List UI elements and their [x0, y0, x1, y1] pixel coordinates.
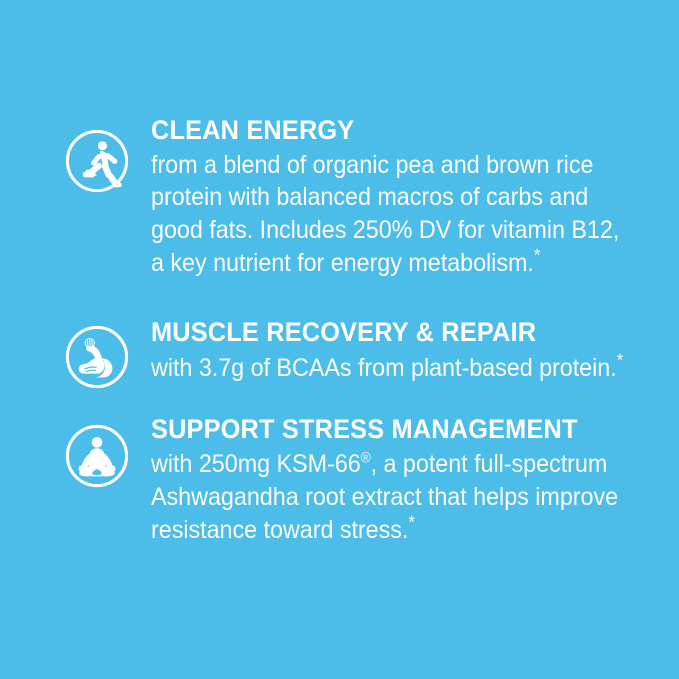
benefit-block-clean-energy: CLEAN ENERGY from a blend of organic pea… [0, 116, 679, 280]
running-person-icon [65, 129, 129, 193]
benefits-infographic: CLEAN ENERGY from a blend of organic pea… [0, 0, 679, 679]
benefit-heading: CLEAN ENERGY [151, 116, 609, 145]
meditating-person-icon [65, 424, 129, 488]
benefit-text-stress-management: SUPPORT STRESS MANAGEMENT with 250mg KSM… [151, 415, 631, 547]
benefit-body-text: with 3.7g of BCAAs from plant-based prot… [151, 354, 617, 382]
footnote-asterisk: * [534, 246, 541, 266]
footnote-asterisk: * [408, 512, 415, 532]
benefit-text-muscle-recovery: MUSCLE RECOVERY & REPAIR with 3.7g of BC… [151, 318, 631, 385]
benefit-body: with 3.7g of BCAAs from plant-based prot… [151, 352, 631, 385]
benefit-text-clean-energy: CLEAN ENERGY from a blend of organic pea… [151, 116, 631, 280]
benefit-heading: SUPPORT STRESS MANAGEMENT [151, 415, 609, 444]
benefit-body-text-lead: with 250mg KSM-66 [151, 450, 361, 478]
benefit-body-text: from a blend of organic pea and brown ri… [151, 151, 619, 277]
benefit-body: from a blend of organic pea and brown ri… [151, 149, 631, 280]
footnote-asterisk: * [617, 351, 624, 371]
benefit-heading: MUSCLE RECOVERY & REPAIR [151, 318, 609, 347]
registered-trademark-symbol: ® [361, 451, 371, 467]
flexed-bicep-icon [65, 325, 129, 389]
benefit-block-muscle-recovery: MUSCLE RECOVERY & REPAIR with 3.7g of BC… [0, 318, 679, 389]
benefits-list: CLEAN ENERGY from a blend of organic pea… [0, 116, 679, 546]
benefit-block-stress-management: SUPPORT STRESS MANAGEMENT with 250mg KSM… [0, 415, 679, 547]
benefit-body: with 250mg KSM-66®, a potent full-spectr… [151, 448, 631, 546]
